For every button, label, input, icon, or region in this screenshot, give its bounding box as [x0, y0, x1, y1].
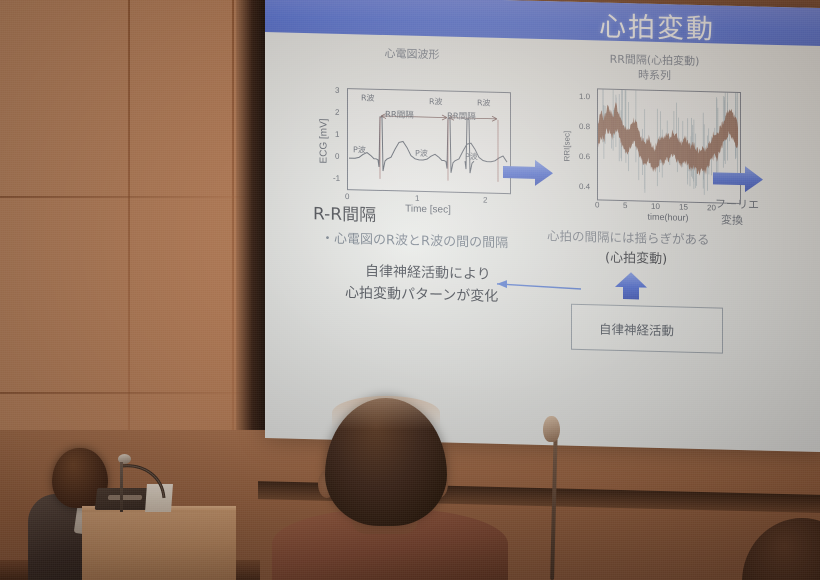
rr-y-axis-label: RRI[sec]	[563, 116, 572, 176]
ecg-r-peak-label-1: R波	[361, 92, 375, 103]
slide-title-band	[265, 0, 820, 46]
ecg-y-axis-label: ECG [mV]	[319, 106, 330, 176]
arrow-right-icon-2	[711, 163, 767, 194]
slide-title: 心拍変動	[599, 4, 715, 46]
rr-y-tick: 0.8	[579, 122, 590, 131]
rr-x-tick: 10	[651, 202, 660, 211]
ecg-y-tick: 0	[335, 152, 339, 161]
ecg-r-peak-label-3: R波	[477, 97, 491, 108]
microphone-stand	[120, 462, 123, 512]
microphone-gooseneck	[118, 458, 176, 502]
rr-x-tick: 15	[679, 202, 688, 211]
ecg-p-wave-label-2: P波	[415, 148, 428, 159]
audience-hair-highlight	[332, 396, 440, 430]
floor-microphone-head	[543, 416, 560, 442]
photo-scene: 心拍変動 心電図波形 ECG [mV] 3 2 1 0 -1	[0, 0, 820, 580]
arrow-up-icon	[613, 271, 649, 302]
projection-screen: 心拍変動 心電図波形 ECG [mV] 3 2 1 0 -1	[265, 0, 820, 452]
rr-note-line1: 心拍の間隔には揺らぎがある	[547, 225, 710, 248]
rr-y-tick: 1.0	[579, 92, 590, 101]
rr-x-tick: 5	[623, 201, 627, 210]
rr-y-tick: 0.6	[579, 152, 590, 161]
rr-y-tick: 0.4	[579, 182, 590, 191]
fourier-label-line2: 変換	[721, 212, 743, 229]
rr-x-tick: 0	[595, 200, 599, 209]
rr-heading: R-R間隔	[313, 199, 376, 226]
ecg-rr-interval-label-1: RR間隔	[385, 108, 414, 121]
ecg-rr-interval-label-2: RR間隔	[447, 110, 476, 123]
wall-seam	[0, 392, 250, 394]
ecg-y-tick: 2	[335, 108, 339, 117]
psd-chart: PSD [sec²/Hz] 0.30 0.25 0.20 0.15 0.10 0…	[785, 67, 820, 230]
rr-bullet: ・心電図のR波とR波の間の間隔	[321, 227, 508, 251]
podium	[82, 508, 236, 580]
rr-note-line2: (心拍変動)	[605, 247, 667, 268]
ans-note-line1: 自律神経活動により	[365, 261, 491, 284]
ecg-chart-title: 心電図波形	[307, 43, 517, 64]
ecg-r-peak-label-2: R波	[429, 96, 443, 107]
ecg-y-tick: 3	[335, 86, 339, 95]
wall-seam	[0, 196, 250, 198]
autonomic-activity-label: 自律神経活動	[599, 318, 674, 339]
arrow-right-icon-1	[501, 156, 557, 189]
rr-x-axis-label: time(hour)	[597, 210, 739, 224]
ecg-y-tick: 1	[335, 130, 339, 139]
ecg-y-tick: -1	[333, 174, 340, 183]
ecg-p-wave-label-3: P波	[465, 151, 478, 162]
ecg-chart: 心電図波形 ECG [mV] 3 2 1 0 -1	[307, 43, 517, 218]
ecg-x-tick: 2	[483, 196, 487, 205]
slide-surface: 心拍変動 心電図波形 ECG [mV] 3 2 1 0 -1	[265, 0, 820, 452]
ans-note-line2: 心拍変動パターンが変化	[345, 282, 498, 306]
fourier-label-line1: フーリエ	[715, 195, 759, 212]
ecg-p-wave-label-1: P波	[353, 144, 366, 155]
connector-arrow-left-icon	[487, 278, 583, 296]
ecg-x-tick: 1	[415, 194, 419, 203]
